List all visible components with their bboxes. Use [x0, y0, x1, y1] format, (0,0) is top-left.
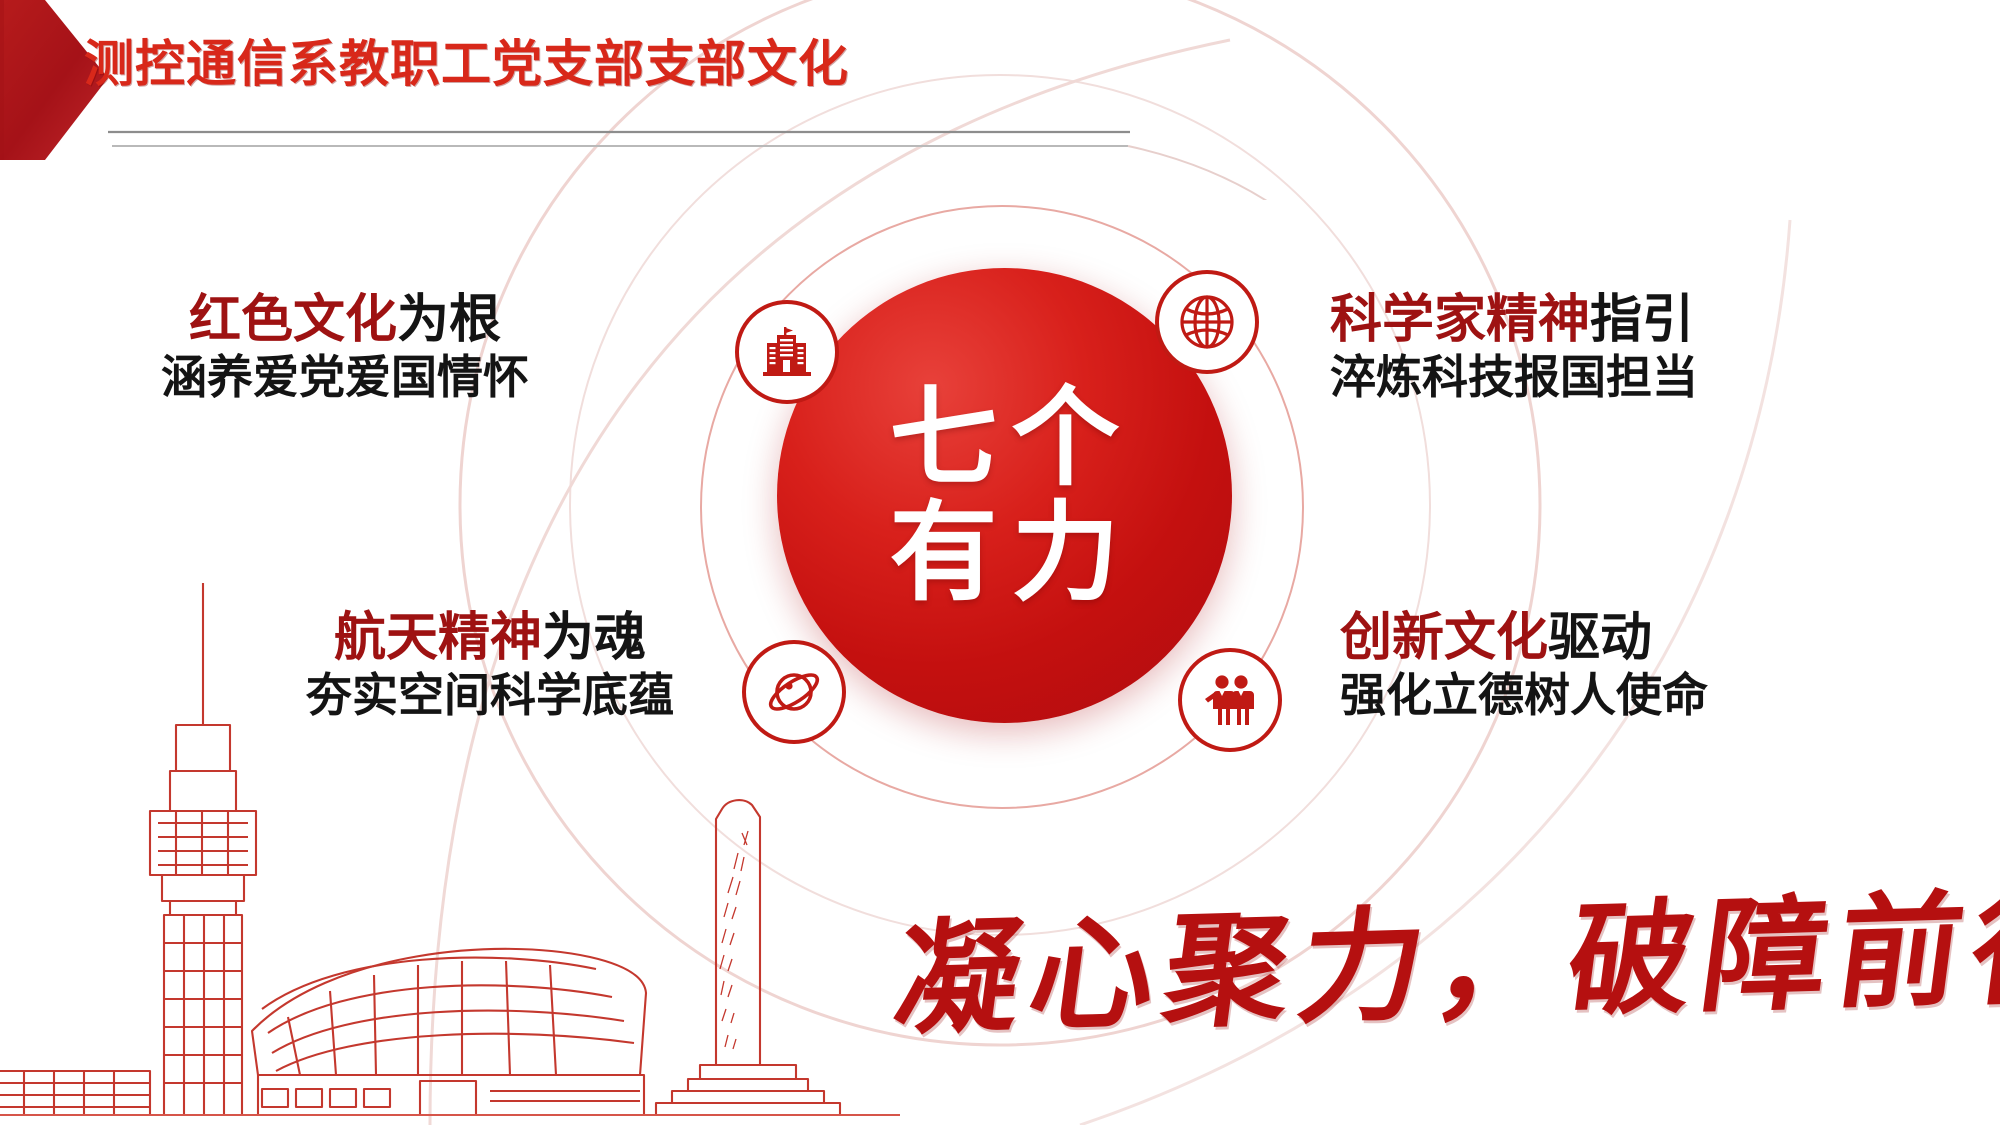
quadrant-br-subtitle: 强化立德树人使命	[1340, 668, 1708, 723]
quadrant-top-right: 科学家精神指引 淬炼科技报国担当	[1330, 290, 1698, 406]
page-title: 测控通信系教职工党支部支部文化	[84, 24, 849, 96]
quadrant-bottom-right: 创新文化驱动 强化立德树人使命	[1340, 608, 1708, 724]
quadrant-top-left: 红色文化为根 涵养爱党爱国情怀	[161, 290, 529, 406]
building-icon[interactable]	[735, 300, 839, 404]
slide-canvas: 测控通信系教职工党支部支部文化 七个 有力	[0, 0, 2000, 1125]
globe-glyph	[1176, 291, 1238, 353]
quadrant-tr-headline: 科学家精神指引	[1330, 290, 1698, 350]
center-sphere-label: 七个 有力	[875, 381, 1133, 610]
quadrant-bl-subtitle: 夯实空间科学底蕴	[306, 668, 674, 723]
stadium-icon	[252, 949, 646, 1115]
quadrant-tl-emphasis: 红色文化	[189, 291, 397, 349]
monument-icon	[656, 800, 840, 1115]
quadrant-tr-subtitle: 淬炼科技报国担当	[1330, 350, 1698, 405]
quadrant-bl-headline: 航天精神为魂	[306, 608, 674, 668]
quadrant-tl-rest: 为根	[397, 291, 501, 349]
quadrant-tl-headline: 红色文化为根	[161, 290, 529, 350]
quadrant-bottom-left: 航天精神为魂 夯实空间科学底蕴	[306, 608, 674, 724]
people-icon[interactable]	[1178, 648, 1282, 752]
slogan-calligraphy: 凝心聚力，破障前行	[886, 845, 2000, 1059]
center-line-2: 有力	[875, 496, 1133, 610]
globe-icon[interactable]	[1155, 270, 1259, 374]
people-glyph	[1201, 671, 1259, 729]
quadrant-bl-rest: 为魂	[542, 609, 646, 667]
quadrant-tl-subtitle: 涵养爱党爱国情怀	[161, 350, 529, 405]
quadrant-br-headline: 创新文化驱动	[1340, 608, 1708, 668]
quadrant-br-emphasis: 创新文化	[1340, 609, 1548, 667]
quadrant-bl-emphasis: 航天精神	[334, 609, 542, 667]
building-glyph	[759, 324, 815, 380]
quadrant-br-rest: 驱动	[1548, 609, 1652, 667]
tower-icon	[150, 583, 256, 1115]
planet-icon[interactable]	[742, 640, 846, 744]
planet-glyph	[764, 662, 824, 722]
low-rise-icon	[0, 1071, 150, 1115]
center-line-1: 七个	[875, 381, 1133, 495]
quadrant-tr-emphasis: 科学家精神	[1330, 291, 1590, 349]
quadrant-tr-rest: 指引	[1590, 291, 1694, 349]
